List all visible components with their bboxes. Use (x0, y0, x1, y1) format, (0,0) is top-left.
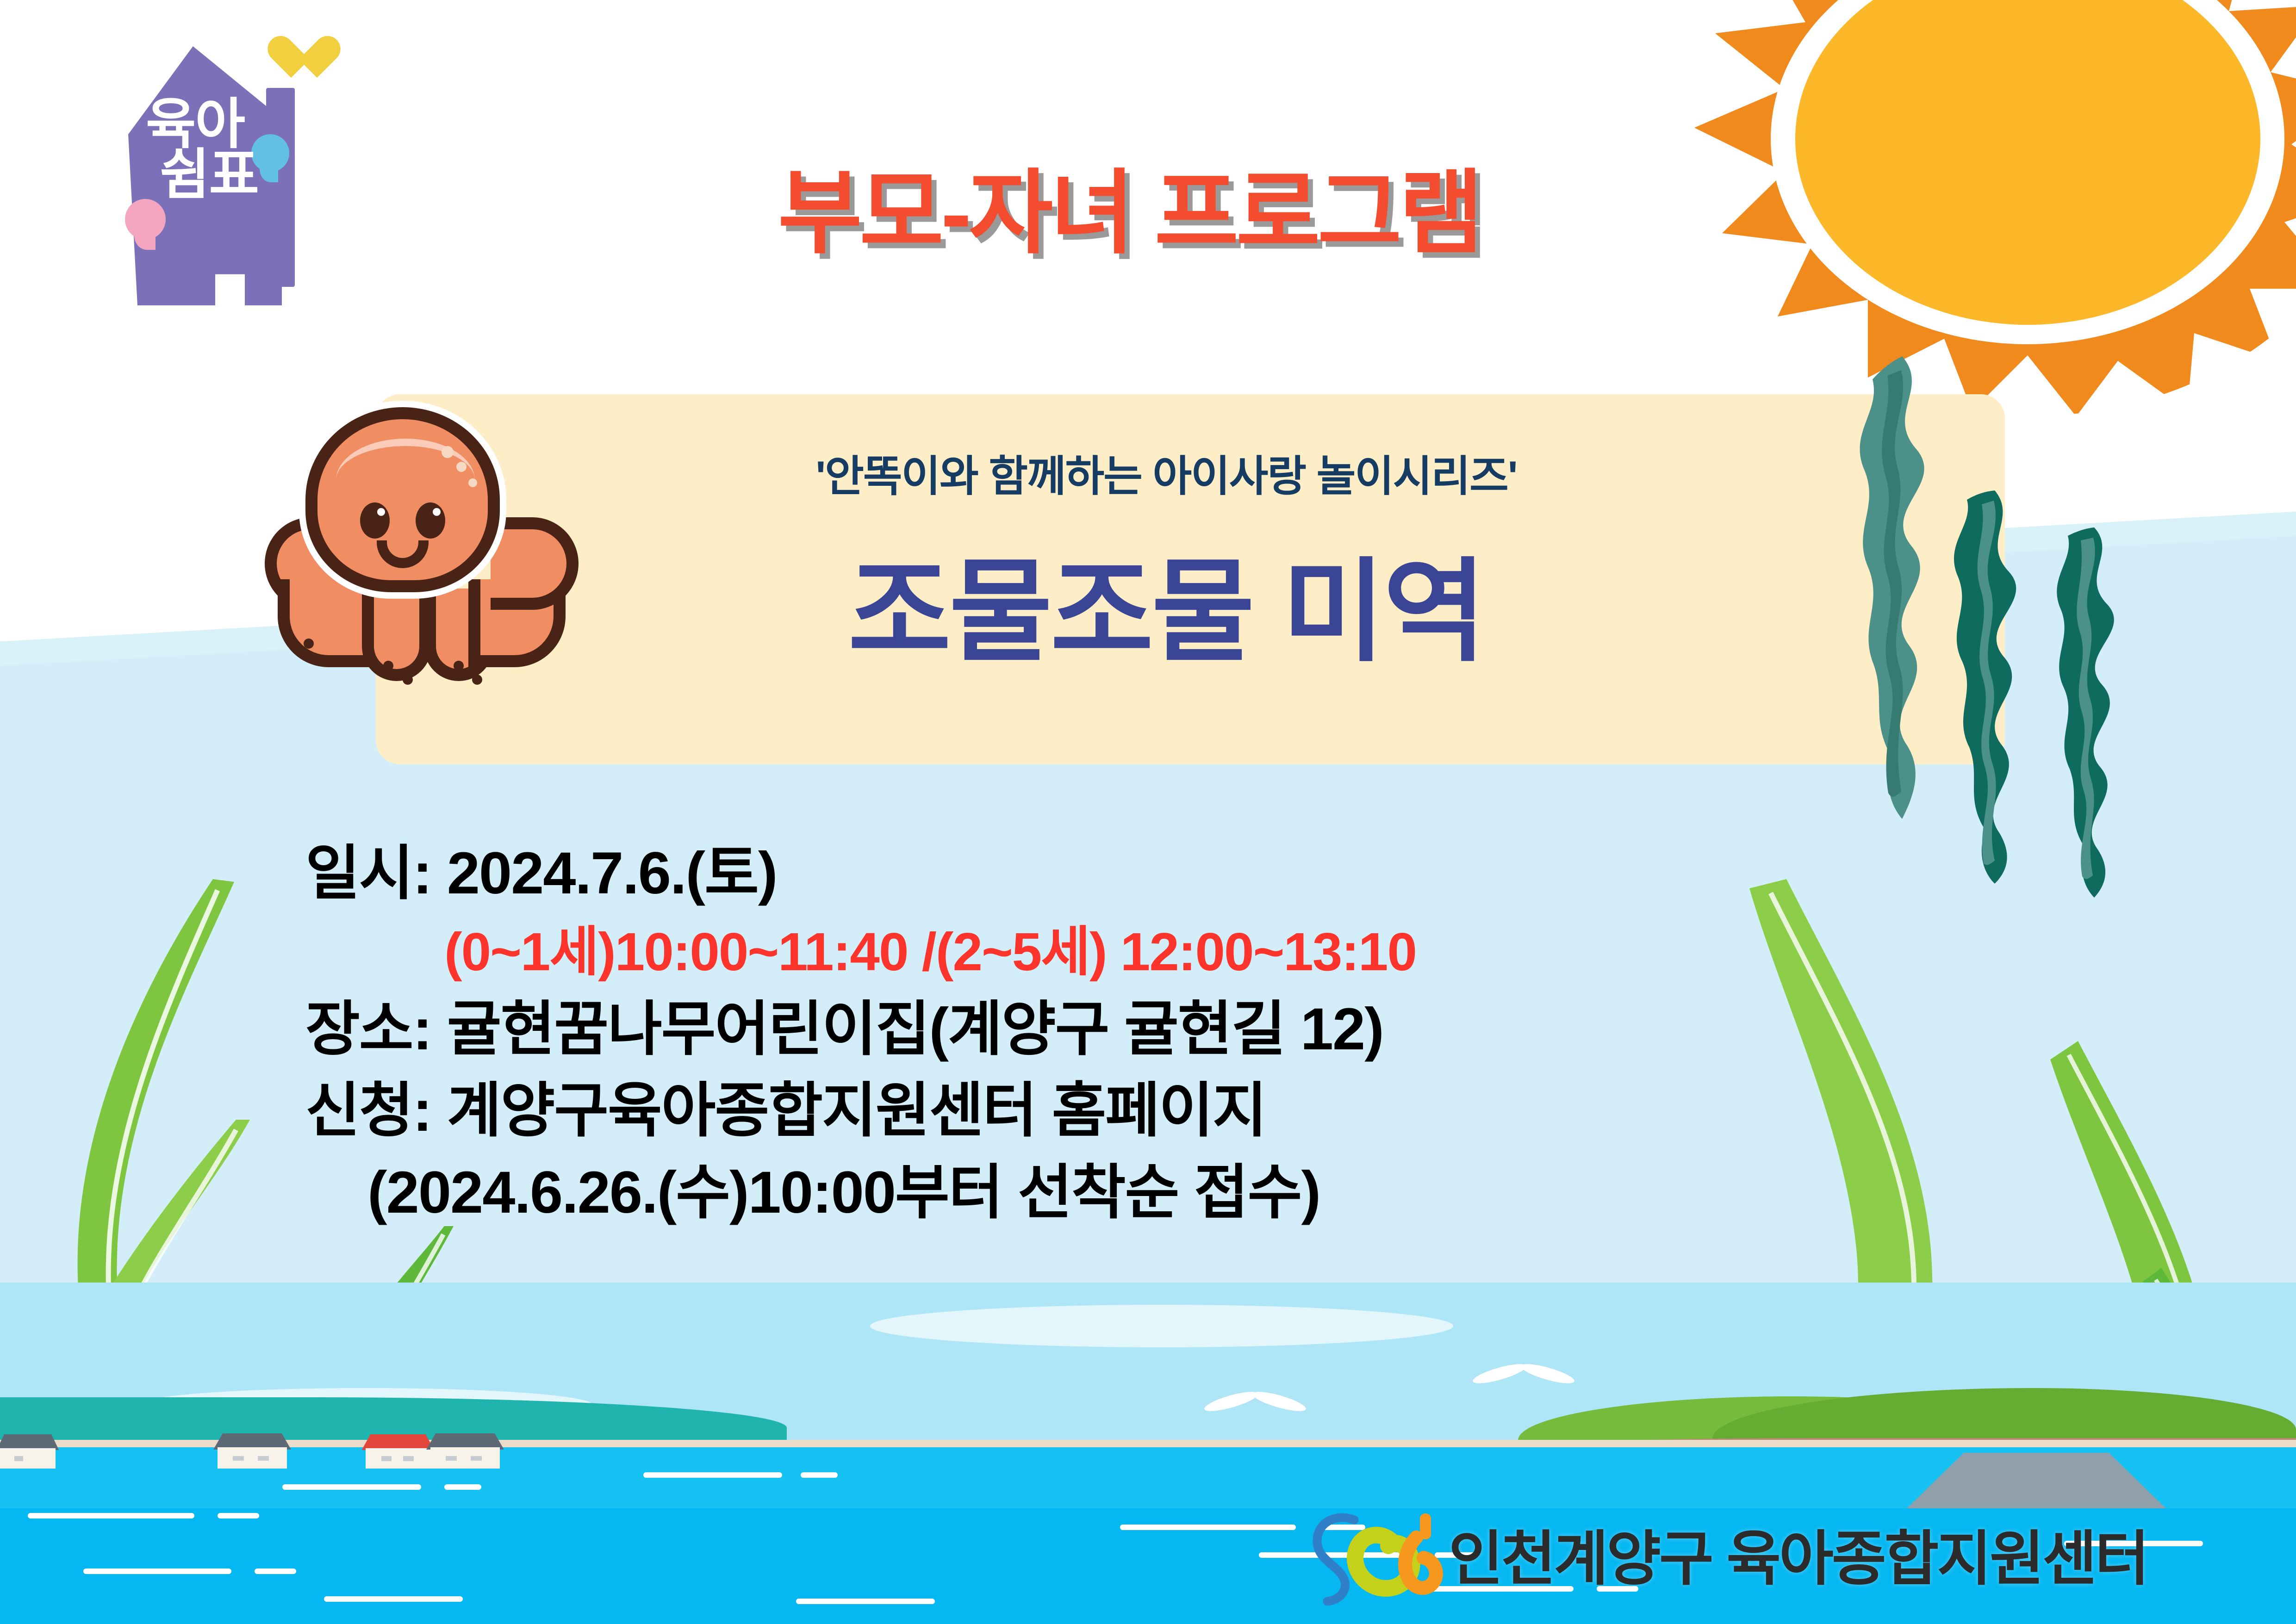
wave-dash (444, 1484, 481, 1490)
octopus-eye-left (360, 502, 390, 539)
logo-wordmark-line2: 쉼표 (160, 150, 294, 200)
house-window (233, 1456, 244, 1461)
octopus-eye-right (416, 502, 445, 539)
house-window (471, 1456, 482, 1461)
center-logo: 인천계양구 육아종합지원센터 (1310, 1501, 2245, 1617)
house-icon (0, 1434, 56, 1469)
octopus-sucker-1 (304, 638, 314, 649)
octopus-gloss (336, 439, 475, 522)
wave-dash (1120, 1525, 1296, 1530)
octopus-sucker-2 (383, 661, 393, 671)
octopus-leg-3 (362, 589, 431, 681)
wave-dash (255, 1568, 296, 1574)
wave-dash (83, 1568, 231, 1574)
octopus-sucker-5 (472, 675, 482, 685)
house-walls (218, 1447, 287, 1469)
detail-line-times: (0~1세)10:00~11:40 /(2~5세) 12:00~13:10 (305, 915, 2203, 989)
wave-dash (324, 1596, 463, 1602)
logo-accent-bar (1420, 1513, 1431, 1539)
wave-dash (796, 1599, 935, 1604)
house-icon (430, 1433, 500, 1469)
center-logo-svg (1310, 1510, 1462, 1607)
house-window (403, 1456, 413, 1461)
logo-swirl-orange (1405, 1537, 1436, 1588)
house-icon (366, 1434, 430, 1469)
center-logo-mark-icon (1310, 1510, 1462, 1607)
house-window (381, 1456, 392, 1461)
seaweed-icon (1823, 356, 1981, 819)
wave-dash (282, 1484, 421, 1490)
octopus-icon (259, 407, 583, 726)
house-walls (0, 1448, 56, 1469)
wave-dash (218, 1513, 259, 1519)
seaweed-frond-center (1823, 356, 1981, 819)
details-block: 일시: 2024.7.6.(토) (0~1세)10:00~11:40 /(2~5… (305, 833, 2203, 1234)
series-subtitle: '안똑이와 함께하는 아이사랑 놀이시리즈' (569, 442, 1763, 503)
octopus-sucker-4 (454, 661, 464, 671)
octopus-leg-2 (278, 579, 375, 667)
detail-line-apply-note: (2024.6.26.(수)10:00부터 선착순 접수) (305, 1152, 2203, 1234)
detail-line-date: 일시: 2024.7.6.(토) (305, 833, 2203, 915)
house-icon (218, 1433, 287, 1469)
wave-dash (28, 1513, 194, 1519)
center-logo-text: 인천계양구 육아종합지원센터 (1449, 1511, 2147, 1596)
detail-line-apply: 신청: 계양구육아종합지원센터 홈페이지 (305, 1070, 2203, 1152)
poster-canvas: 육아 쉼표 부모-자녀 프로그램 '안똑이와 함께하는 아이사랑 놀이시리즈' … (0, 0, 2296, 1624)
house-window (14, 1456, 23, 1461)
octopus-head (305, 407, 500, 592)
house-window (446, 1456, 457, 1461)
cloud-wisp-1 (870, 1305, 1453, 1347)
house-window (258, 1456, 269, 1461)
octopus-spot-1 (442, 446, 454, 458)
octopus-spot-3 (468, 478, 477, 487)
logo-wordmark: 육아 쉼표 (146, 99, 294, 200)
house-logo-icon: 육아 쉼표 (76, 19, 336, 333)
wave-dash (643, 1472, 782, 1478)
detail-line-place: 장소: 귤현꿈나무어린이집(계양구 귤현길 12) (305, 989, 2203, 1071)
octopus-sucker-3 (403, 675, 413, 685)
heart-icon (267, 37, 317, 84)
program-title: 부모-자녀 프로그램 (597, 139, 1661, 272)
house-walls (366, 1448, 430, 1469)
wave-dash (801, 1472, 838, 1478)
series-title: 조물조물 미역 (569, 521, 1763, 683)
octopus-spot-2 (456, 462, 467, 472)
sun-icon (1680, 0, 2296, 416)
octopus-smile (377, 540, 429, 568)
house-walls (430, 1447, 500, 1469)
